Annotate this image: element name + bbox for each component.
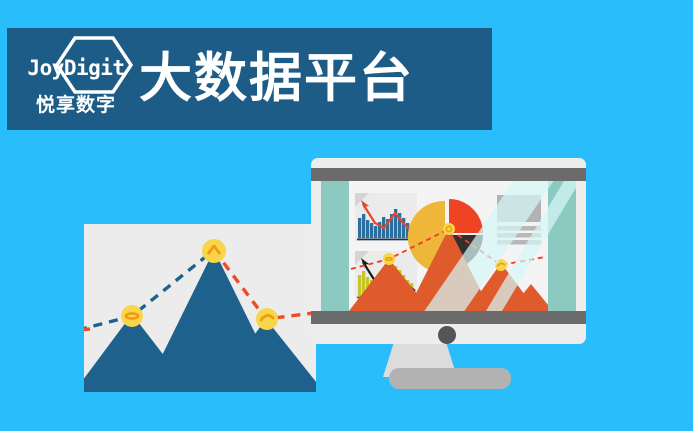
mountain-trend-svg [84, 224, 316, 392]
trend-line-red-tip [84, 329, 90, 330]
header-banner: JoyDigit 悦享数字 大数据平台 [7, 28, 492, 130]
monitor-power-button[interactable] [438, 326, 456, 344]
monitor-bezel-bottom [311, 311, 586, 324]
poster-canvas: JoyDigit 悦享数字 大数据平台 [0, 0, 693, 431]
mountain-trend-panel [84, 224, 316, 392]
monitor-bezel-top [311, 168, 586, 181]
trend-marker [202, 239, 226, 263]
dashboard-svg [349, 181, 548, 311]
monitor-stand-base [389, 368, 511, 389]
trend-marker [443, 223, 455, 235]
trend-marker [495, 259, 507, 271]
trend-marker [121, 305, 143, 327]
trend-marker [256, 308, 278, 330]
dashboard-content [349, 181, 548, 311]
monitor-screen [321, 181, 576, 311]
page-title: 大数据平台 [139, 45, 414, 113]
text-block-placeholder [497, 195, 541, 245]
desktop-monitor [311, 158, 586, 344]
trend-marker [383, 253, 395, 265]
blue-bar-chart-card[interactable] [355, 193, 417, 241]
logo-en-text: JoyDigit [21, 56, 131, 80]
logo-cn-text: 悦享数字 [21, 90, 131, 117]
brand-logo: JoyDigit 悦享数字 [21, 36, 131, 122]
